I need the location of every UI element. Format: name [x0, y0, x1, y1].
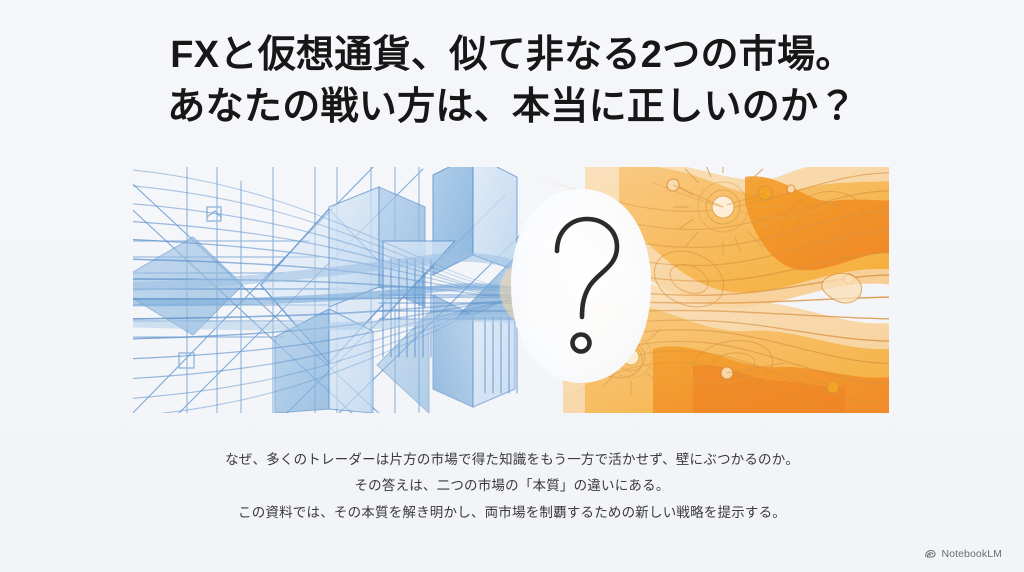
notebooklm-watermark: NotebookLM [924, 548, 1002, 560]
hero-illustration [133, 167, 889, 413]
title-line-2: あなたの戦い方は、本当に正しいのか？ [0, 82, 1024, 134]
slide-canvas: FXと仮想通貨、似て非なる2つの市場。 あなたの戦い方は、本当に正しいのか？ [0, 0, 1024, 572]
page-title: FXと仮想通貨、似て非なる2つの市場。 あなたの戦い方は、本当に正しいのか？ [0, 30, 1024, 133]
notebooklm-spark-icon [924, 548, 936, 560]
caption-block: なぜ、多くのトレーダーは片方の市場で得た知識をもう一方で活かせず、壁にぶつかるの… [0, 447, 1024, 526]
notebooklm-label: NotebookLM [941, 548, 1002, 560]
title-line-1: FXと仮想通貨、似て非なる2つの市場。 [0, 30, 1024, 82]
caption-line-2: その答えは、二つの市場の「本質」の違いにある。 [0, 473, 1024, 499]
caption-line-3: この資料では、その本質を解き明かし、両市場を制覇するための新しい戦略を提示する。 [0, 500, 1024, 526]
caption-line-1: なぜ、多くのトレーダーは片方の市場で得た知識をもう一方で活かせず、壁にぶつかるの… [0, 447, 1024, 473]
center-question-lens [511, 189, 651, 383]
